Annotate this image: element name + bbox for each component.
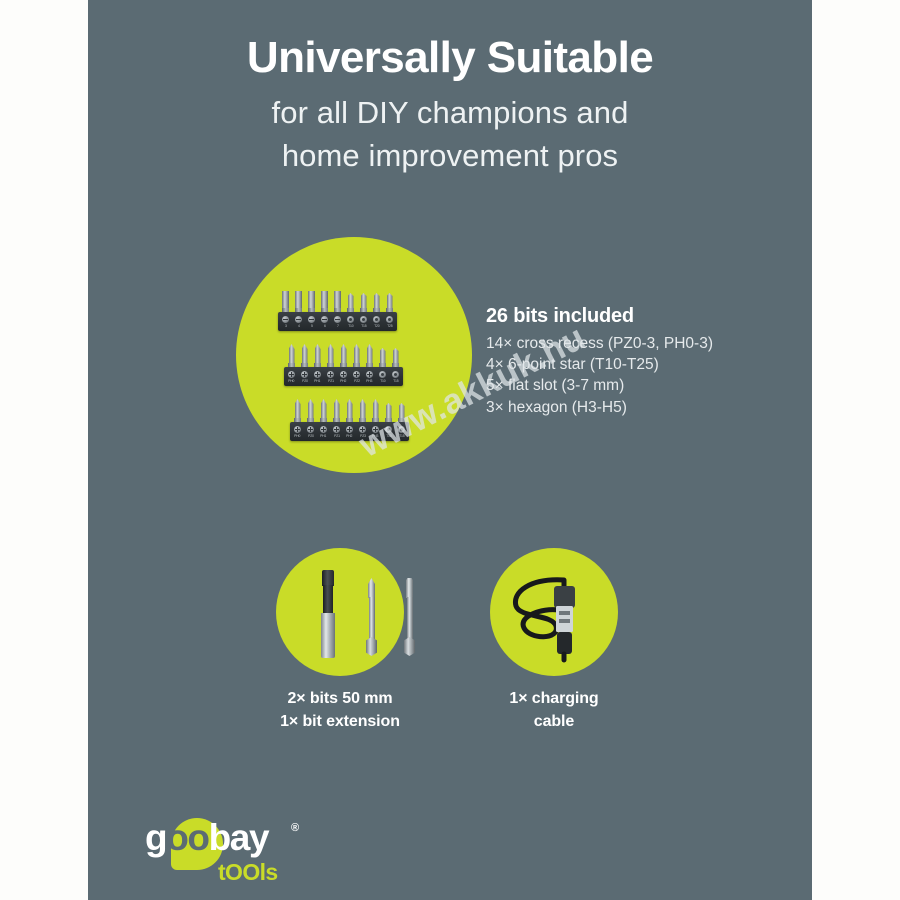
bit-tip: [333, 395, 340, 422]
bit-slot: 7: [334, 316, 341, 328]
star-icon: [347, 316, 354, 323]
charging-cable-illustration: [490, 548, 618, 676]
extension-magnetic-sleeve: [321, 613, 335, 658]
bit-slot: 4: [295, 316, 302, 328]
flat-slot-icon: [295, 316, 302, 323]
page-canvas: Universally Suitable for all DIY champio…: [0, 0, 900, 900]
bit-slot: PH0: [294, 426, 301, 438]
bit-slot: PH3: [366, 371, 373, 383]
bit-tip: [334, 285, 341, 312]
extension-body: [323, 585, 333, 615]
bit-tip: [294, 395, 301, 422]
bit-slot: 5: [308, 316, 315, 328]
bit-slot: T10: [379, 371, 386, 383]
bit-slot: T20: [373, 316, 380, 328]
goobay-tools-logo: goobay ® tOOls: [145, 812, 375, 890]
micro-usb-housing: [557, 632, 572, 654]
extension-hex-shank: [322, 570, 334, 586]
cross-recess-icon: [333, 426, 340, 433]
page-subtitle-line-2: home improvement pros: [88, 135, 812, 178]
bit-slot: T25: [386, 316, 393, 328]
bit-tip: [373, 285, 380, 312]
registered-trademark-icon: ®: [291, 822, 299, 834]
bit-tip: [360, 285, 367, 312]
bit-slot: PH3: [372, 426, 379, 438]
cross-recess-icon: [320, 426, 327, 433]
caption-line-2: 1× bit extension: [240, 711, 440, 734]
logo-wordmark: goobay: [145, 819, 268, 856]
bit-tip: [379, 340, 386, 367]
flat-slot-icon: [334, 316, 341, 323]
cross-tip: [368, 578, 375, 598]
bit-tip: [321, 285, 328, 312]
bit-tip: [340, 340, 347, 367]
bit-shaft: [407, 597, 413, 639]
bit-strip-3-tips: [290, 395, 409, 422]
star-icon: [385, 426, 392, 433]
bit-slot: PH2: [340, 371, 347, 383]
bit-tip: [288, 340, 295, 367]
bit-slot: 6: [321, 316, 328, 328]
bit-tip: [307, 395, 314, 422]
bit-slot: T15: [398, 426, 405, 438]
flat-slot-icon: [308, 316, 315, 323]
logo-lead-letter: g: [145, 817, 166, 858]
bit-slot: PH0: [288, 371, 295, 383]
bit-slot: T10: [347, 316, 354, 328]
product-panel: Universally Suitable for all DIY champio…: [88, 0, 812, 900]
bit-tip: [301, 340, 308, 367]
cross-recess-icon: [359, 426, 366, 433]
cross-recess-icon: [301, 371, 308, 378]
page-subtitle-line-1: for all DIY champions and: [88, 92, 812, 135]
bit-strip-1-tips: [278, 285, 397, 312]
bit-strip-2: PH0 PZ0 PH1 PZ1 PH2 PZ2 PH3 T10 T15: [284, 340, 403, 386]
spec-block: 26 bits included 14× cross recess (PZ0-3…: [486, 305, 786, 418]
charging-cable-caption: 1× charging cable: [454, 688, 654, 733]
bit-slot: PH1: [320, 426, 327, 438]
spec-item: 5× flat slot (3-7 mm): [486, 375, 786, 396]
bit-slot: 3: [282, 316, 289, 328]
cross-recess-icon: [353, 371, 360, 378]
bit-slot: PZ0: [307, 426, 314, 438]
cross-recess-icon: [346, 426, 353, 433]
bit-extension-illustration: [320, 570, 336, 658]
bit-tip: [346, 395, 353, 422]
bit-slot: T10: [385, 426, 392, 438]
bit-tip: [347, 285, 354, 312]
usb-a-housing: [554, 586, 575, 608]
cross-recess-icon: [307, 426, 314, 433]
bit-tip: [386, 285, 393, 312]
bit-slot: PZ2: [353, 371, 360, 383]
bit-hex-end: [404, 637, 415, 656]
cross-recess-icon: [314, 371, 321, 378]
bit-slot: PH1: [314, 371, 321, 383]
bit-tip: [372, 395, 379, 422]
cross-recess-icon: [372, 426, 379, 433]
bit-strip-1: 3 4 5 6 7 T10 T15 T20 T25: [278, 285, 397, 331]
cross-recess-icon: [340, 371, 347, 378]
logo-sub-wordmark: tOOls: [218, 859, 278, 886]
bit-strip-1-holder: 3 4 5 6 7 T10 T15 T20 T25: [278, 312, 397, 331]
bit-slot: PZ3: [359, 426, 366, 438]
bit-tip: [282, 285, 289, 312]
star-icon: [398, 426, 405, 433]
bit-tip: [385, 395, 392, 422]
spec-item: 14× cross recess (PZ0-3, PH0-3): [486, 333, 786, 354]
bit-shaft: [369, 597, 375, 639]
logo-oo-letters: oo: [166, 817, 208, 858]
logo-tail-letters: bay: [209, 817, 269, 858]
bit-slot: T15: [392, 371, 399, 383]
star-icon: [360, 316, 367, 323]
bit-slot: PZ0: [301, 371, 308, 383]
bit-strip-3: PH0 PZ0 PH1 PZ1 PH2 PZ3 PH3 T10 T15: [290, 395, 409, 441]
star-icon: [373, 316, 380, 323]
bit-slot: T15: [360, 316, 367, 328]
bit-50mm-flat-illustration: [403, 578, 416, 656]
usb-a-contact: [559, 619, 570, 623]
bits-showcase-circle: 3 4 5 6 7 T10 T15 T20 T25: [236, 237, 472, 473]
spec-list: 14× cross recess (PZ0-3, PH0-3) 4× 6-poi…: [486, 333, 786, 418]
bit-strip-3-holder: PH0 PZ0 PH1 PZ1 PH2 PZ3 PH3 T10 T15: [290, 422, 409, 441]
cross-recess-icon: [294, 426, 301, 433]
bit-50mm-cross-illustration: [365, 578, 378, 656]
spec-item: 3× hexagon (H3-H5): [486, 397, 786, 418]
spec-title: 26 bits included: [486, 305, 786, 328]
usb-a-contact: [559, 611, 570, 615]
bit-tip: [320, 395, 327, 422]
bit-strip-2-holder: PH0 PZ0 PH1 PZ1 PH2 PZ2 PH3 T10 T15: [284, 367, 403, 386]
bit-extension-circle: [276, 548, 404, 676]
flat-tip: [406, 578, 413, 598]
flat-slot-icon: [321, 316, 328, 323]
bit-hex-end: [366, 637, 377, 656]
cross-recess-icon: [288, 371, 295, 378]
cross-recess-icon: [366, 371, 373, 378]
caption-line-2: cable: [454, 711, 654, 734]
bit-slot: PZ1: [333, 426, 340, 438]
star-icon: [392, 371, 399, 378]
bit-tip: [398, 395, 405, 422]
bit-slot: PZ1: [327, 371, 334, 383]
bit-extension-caption: 2× bits 50 mm 1× bit extension: [240, 688, 440, 733]
bit-slot: PH2: [346, 426, 353, 438]
star-icon: [379, 371, 386, 378]
bit-tip: [359, 395, 366, 422]
bit-tip: [392, 340, 399, 367]
bit-tip: [353, 340, 360, 367]
caption-line-1: 2× bits 50 mm: [240, 688, 440, 711]
bit-tip: [314, 340, 321, 367]
bit-tip: [327, 340, 334, 367]
spec-item: 4× 6-point star (T10-T25): [486, 354, 786, 375]
star-icon: [386, 316, 393, 323]
flat-slot-icon: [282, 316, 289, 323]
bit-tip: [295, 285, 302, 312]
page-subtitle: for all DIY champions and home improveme…: [88, 92, 812, 178]
caption-line-1: 1× charging: [454, 688, 654, 711]
cross-recess-icon: [327, 371, 334, 378]
bit-tip: [366, 340, 373, 367]
bit-tip: [308, 285, 315, 312]
page-title: Universally Suitable: [88, 34, 812, 82]
bit-strip-2-tips: [284, 340, 403, 367]
